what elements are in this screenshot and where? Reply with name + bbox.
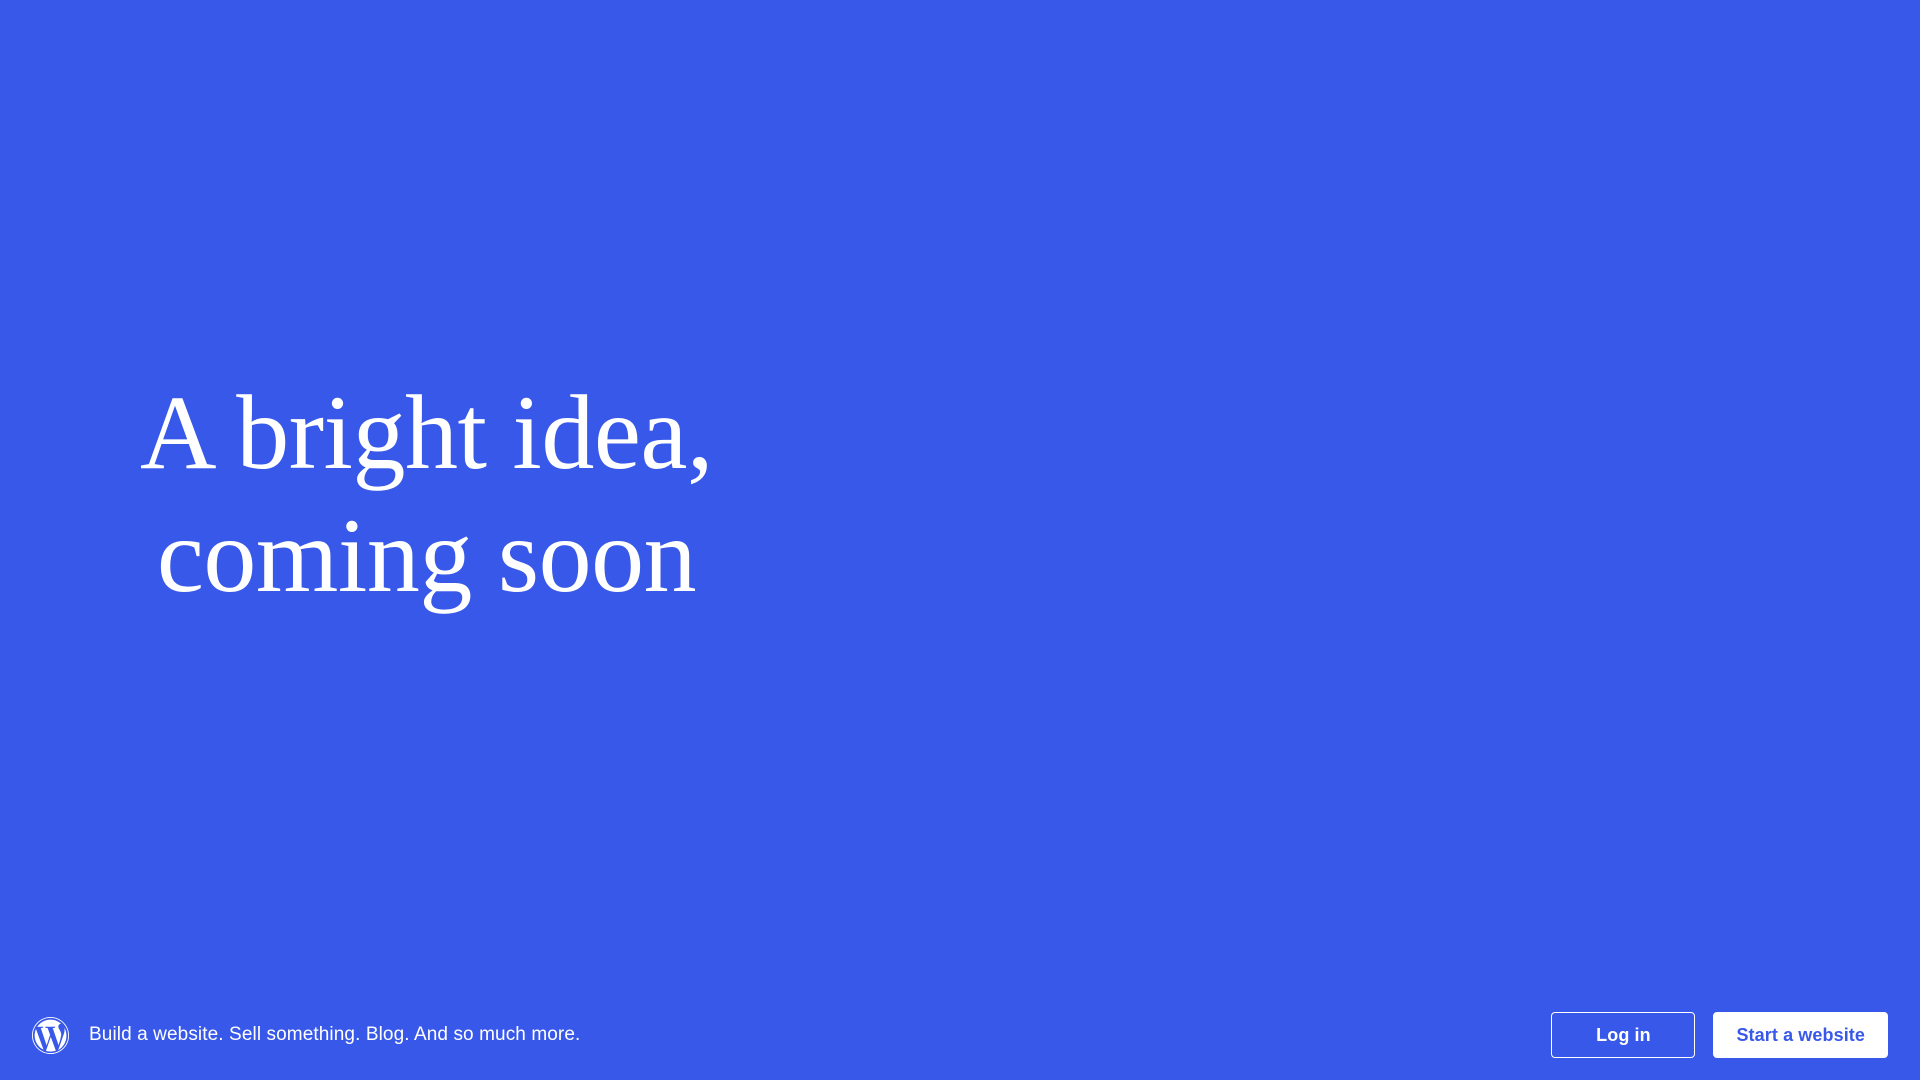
- coming-soon-page: A bright idea, coming soon Build a websi…: [0, 0, 1920, 1080]
- footer-actions: Log in Start a website: [1551, 1012, 1888, 1058]
- start-a-website-button[interactable]: Start a website: [1713, 1012, 1888, 1058]
- hero-content: A bright idea, coming soon: [140, 372, 713, 618]
- footer-branding: Build a website. Sell something. Blog. A…: [32, 1017, 580, 1054]
- wordpress-logo-icon: [32, 1017, 69, 1054]
- footer-bar: Build a website. Sell something. Blog. A…: [0, 990, 1920, 1080]
- hero-section: A bright idea, coming soon: [0, 0, 1920, 990]
- login-button[interactable]: Log in: [1551, 1012, 1695, 1058]
- page-title: A bright idea, coming soon: [140, 372, 713, 618]
- footer-tagline: Build a website. Sell something. Blog. A…: [89, 1024, 580, 1047]
